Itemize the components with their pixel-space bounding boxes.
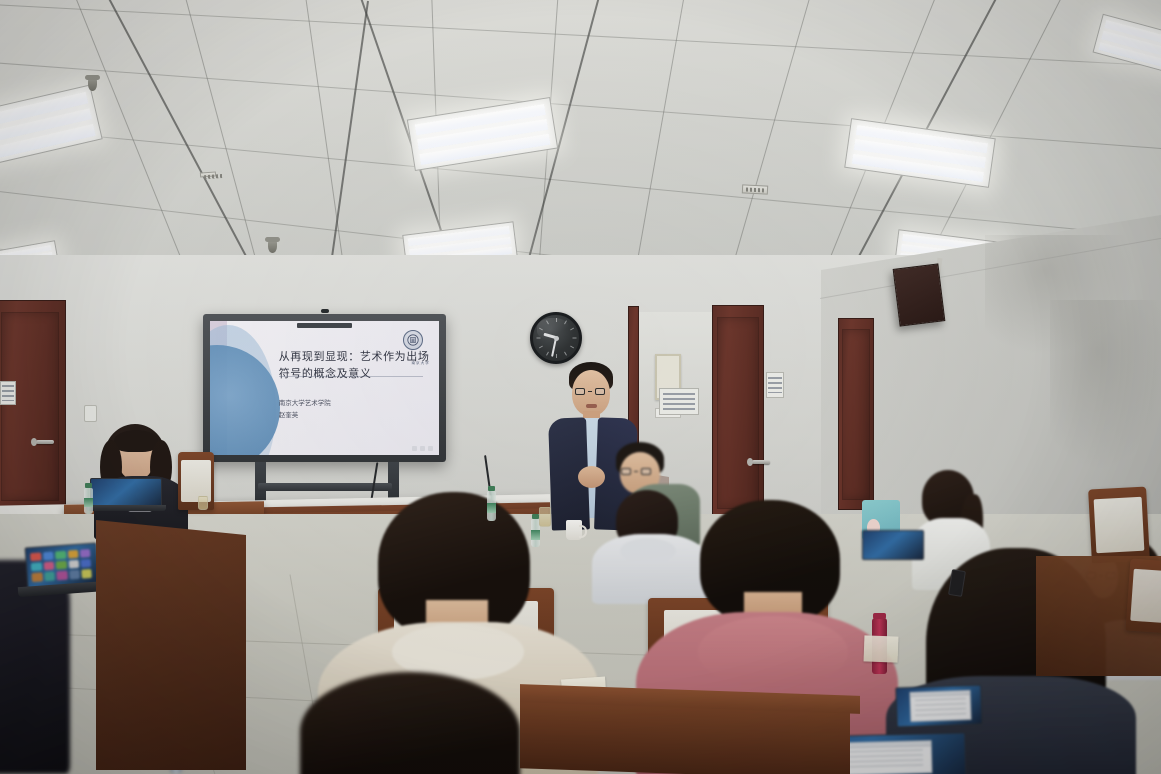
interactive-display[interactable]: 南京大学 从再现到显现：艺术作为出场 符号的概念及意义 南京大学艺术学院 赵奎英 — [203, 314, 446, 462]
slide-title-line-1: 从再现到显现：艺术作为出场 — [279, 348, 430, 365]
glass-cup — [198, 496, 208, 510]
mug — [566, 520, 582, 540]
presenter-hands — [578, 466, 605, 488]
moderator-chair — [178, 452, 214, 510]
hood-fold — [698, 616, 848, 688]
presentation-slide: 南京大学 从再现到显现：艺术作为出场 符号的概念及意义 南京大学艺术学院 赵奎英 — [210, 321, 439, 455]
lecture-room-photo: 南京大学 从再现到显现：艺术作为出场 符号的概念及意义 南京大学艺术学院 赵奎英 — [0, 0, 1161, 774]
student-foreground-head — [300, 672, 520, 774]
left-desk-block — [96, 520, 246, 770]
open-book — [864, 635, 899, 662]
sprinkler-head — [88, 78, 97, 91]
slide-affiliation: 南京大学艺术学院 — [279, 397, 331, 409]
corridor-wall-notice — [766, 372, 784, 398]
door-left-sign — [0, 381, 16, 405]
wall-speaker — [893, 263, 946, 326]
display-camera — [321, 309, 329, 313]
student-glasses-icon — [621, 468, 651, 475]
moderator-laptop-base — [86, 505, 166, 511]
door-right-sign — [659, 388, 699, 415]
presenter-mouth — [586, 404, 597, 408]
door-right-handle[interactable] — [752, 460, 770, 464]
chair-far-right — [1126, 558, 1161, 633]
display-buttons[interactable] — [412, 446, 433, 451]
display-top-bezel-strip — [297, 323, 352, 328]
door-right-open[interactable] — [712, 305, 764, 521]
door-far-right[interactable] — [838, 318, 874, 510]
student-laptop-midright[interactable] — [895, 685, 982, 728]
wall-clock — [530, 312, 582, 364]
moderator-laptop[interactable] — [90, 478, 162, 508]
ceiling-vent — [742, 184, 768, 194]
presenter-glasses — [575, 388, 605, 395]
sprinkler-head — [268, 240, 277, 253]
moderator-fringe — [114, 430, 158, 452]
water-bottle — [84, 488, 93, 514]
ceiling-vent — [200, 171, 216, 177]
water-bottle — [487, 491, 496, 521]
slide-title-line-2: 符号的概念及意义 — [279, 365, 430, 382]
door-left-handle[interactable] — [36, 440, 54, 444]
door-left[interactable] — [0, 300, 66, 512]
glass-cup — [539, 507, 551, 527]
slide-presenter-name: 赵奎英 — [279, 409, 331, 421]
ceiling-rail — [325, 1, 369, 298]
light-switch[interactable] — [84, 405, 97, 422]
slide-divider — [279, 376, 423, 377]
slide-subtitle: 南京大学艺术学院 赵奎英 — [279, 397, 331, 421]
slide-decor-circle — [210, 345, 280, 455]
student-hair — [300, 672, 520, 774]
